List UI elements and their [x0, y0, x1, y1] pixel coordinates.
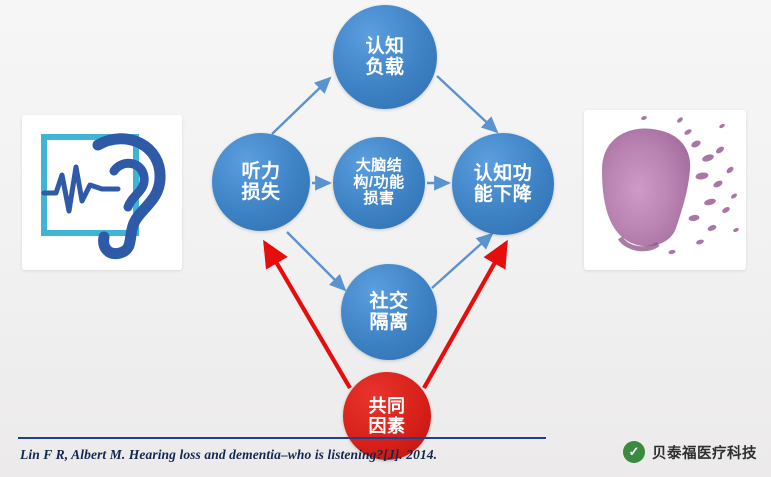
edge-cognitive-load-to-cognitive-decline	[437, 76, 497, 132]
edge-hearing-loss-to-cognitive-load	[272, 78, 330, 134]
footer-divider	[18, 437, 546, 439]
node-brain-damage[interactable]: 大脑结 构/功能 损害	[333, 137, 425, 229]
brand-name-label: 贝泰福医疗科技	[652, 442, 757, 463]
node-common-factor-label: 共同 因素	[343, 396, 431, 436]
node-hearing-loss-label: 听力 损失	[212, 161, 310, 204]
node-cognitive-decline-label: 认知功 能下降	[452, 163, 554, 206]
citation-text: Lin F R, Albert M. Hearing loss and deme…	[20, 447, 540, 463]
edge-hearing-loss-to-social-isolation	[287, 232, 345, 290]
brand-logo-icon: ✓	[623, 441, 645, 463]
node-cognitive-load[interactable]: 认知 负载	[333, 5, 437, 109]
node-social-isolation[interactable]: 社交 隔离	[341, 264, 437, 360]
node-brain-damage-label: 大脑结 构/功能 损害	[333, 158, 425, 208]
edge-common-factor-to-hearing-loss	[265, 243, 350, 388]
node-cognitive-load-label: 认知 负载	[333, 36, 437, 79]
node-cognitive-decline[interactable]: 认知功 能下降	[452, 133, 554, 235]
brand-watermark: ✓ 贝泰福医疗科技	[623, 441, 757, 463]
slide-canvas: 认知 负载 听力 损失 大脑结 构/功能 损害 认知功 能下降 社交 隔离 共同…	[0, 0, 771, 477]
node-hearing-loss[interactable]: 听力 损失	[212, 133, 310, 231]
node-social-isolation-label: 社交 隔离	[341, 291, 437, 334]
